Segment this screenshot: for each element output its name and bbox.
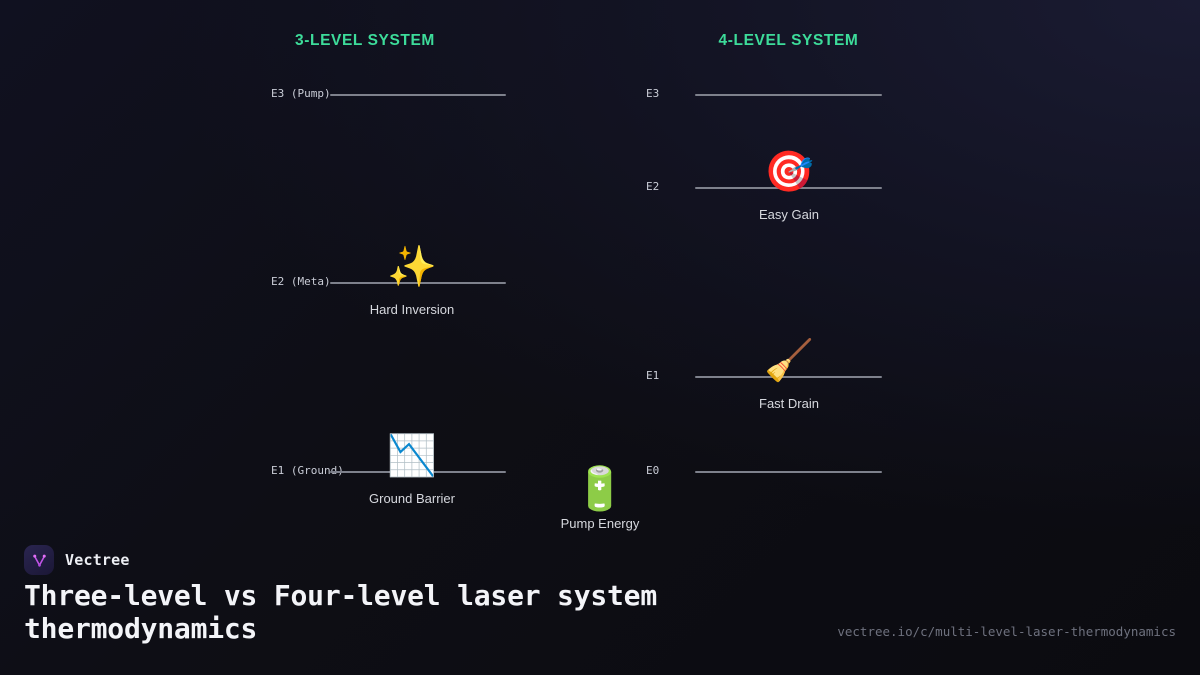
- energy-level-label: E2: [646, 180, 659, 193]
- energy-level-label: E3: [646, 87, 659, 100]
- energy-level-line: [695, 94, 882, 96]
- energy-level-caption: Hard Inversion: [370, 302, 455, 317]
- energy-level-label: E2 (Meta): [271, 275, 331, 288]
- footer-url: vectree.io/c/multi-level-laser-thermodyn…: [837, 624, 1176, 639]
- energy-level-caption: Easy Gain: [759, 207, 819, 222]
- diagram-canvas: 3-LEVEL SYSTEM E3 (Pump) E2 (Meta) ✨ Har…: [0, 0, 1200, 675]
- brand: Vectree: [24, 545, 130, 575]
- pump-energy-caption: Pump Energy: [560, 516, 640, 531]
- vectree-logo-icon: [24, 545, 54, 575]
- pump-energy-item: 🔋 Pump Energy: [560, 468, 640, 531]
- energy-level-line: [695, 471, 882, 473]
- panel-title-four-level: 4-LEVEL SYSTEM: [470, 32, 1107, 50]
- energy-level-label: E1: [646, 369, 659, 382]
- target-icon: 🎯: [764, 152, 814, 192]
- energy-level-caption: Fast Drain: [759, 396, 819, 411]
- energy-level-line: [330, 94, 506, 96]
- energy-level-label: E0: [646, 464, 659, 477]
- energy-level-caption: Ground Barrier: [369, 491, 455, 506]
- chart-decreasing-icon: 📉: [387, 436, 437, 476]
- brand-name: Vectree: [65, 551, 130, 569]
- headline: Three-level vs Four-level laser system t…: [24, 580, 784, 646]
- battery-icon: 🔋: [560, 468, 640, 510]
- broom-icon: 🧹: [764, 341, 814, 381]
- sparkles-icon: ✨: [387, 247, 437, 287]
- energy-level-label: E3 (Pump): [271, 87, 331, 100]
